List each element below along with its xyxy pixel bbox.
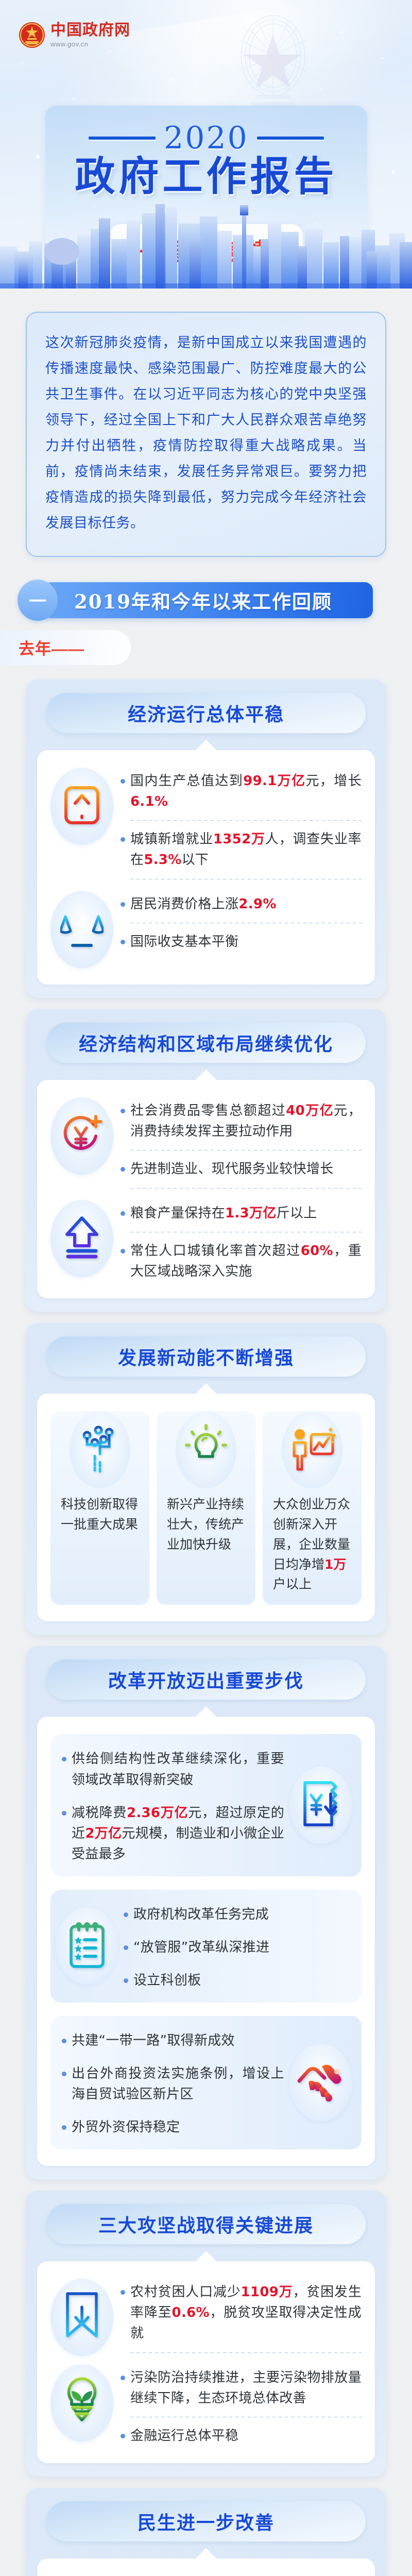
card-notch-decoration — [196, 1383, 216, 1394]
bullet-text: 国内生产总值达到99.1万亿元，增长6.1% — [130, 771, 362, 812]
bullet-dot-icon — [121, 837, 125, 842]
card-title: 经济结构和区域布局继续优化 — [79, 1029, 333, 1056]
highlight-value: 2.36万亿 — [127, 1805, 188, 1821]
bullet-list: 居民消费价格上涨2.9%国际收支基本平衡 — [121, 891, 362, 953]
bullet-item: 社会消费品零售总额超过40万亿元，消费持续发挥主要拉动作用 — [121, 1100, 362, 1142]
bullet-text: 居民消费价格上涨2.9% — [130, 894, 362, 914]
bullet-separator — [130, 923, 362, 923]
card-block: 供给侧结构性改革继续深化，重要领域改革取得新突破减税降费2.36万亿元，超过原定… — [50, 1734, 362, 1876]
bullet-text: 外贸外资保持稳定 — [72, 2117, 284, 2138]
feature-column: 大众创业万众创新深入开展，企业数量日均净增1万户以上 — [263, 1411, 362, 1605]
feature-column-text: 科技创新取得一批重大成果 — [57, 1492, 143, 1535]
block-panel: 供给侧结构性改革继续深化，重要领域改革取得新突破减税降费2.36万亿元，超过原定… — [50, 1734, 362, 1876]
site-logo[interactable]: 中国政府网 www.gov.cn — [19, 22, 130, 48]
bullet-item: 常住人口城镇化率首次超过60%，重大区域战略深入实施 — [121, 1241, 362, 1282]
arrow-up-bold-icon — [62, 1214, 102, 1263]
bullet-dot-icon — [62, 2072, 66, 2076]
bullet-text: 城镇新增就业1352万人，调查失业率在5.3%以下 — [130, 829, 362, 871]
icon-badge — [56, 1907, 118, 1985]
bullet-text: 先进制造业、现代服务业较快增长 — [130, 1159, 362, 1179]
site-logo-url: www.gov.cn — [50, 41, 130, 47]
subsection-pill: 去年—— — [0, 630, 131, 665]
bullet-text: 减税降费2.36万亿元，超过原定的近2万亿元规模，制造业和小微企业受益最多 — [72, 1803, 284, 1865]
card-title-pill: 经济运行总体平稳 — [46, 693, 366, 733]
icon-badge — [50, 2279, 113, 2356]
card-row: 农村贫困人口减少1109万，贫困发生率降至0.6%，脱贫攻坚取得决定性成就 — [50, 2279, 362, 2361]
bullet-separator — [130, 1188, 362, 1189]
card-title-pill: 改革开放迈出重要步伐 — [46, 1659, 366, 1700]
highlight-value: 1109万 — [241, 2284, 293, 2300]
bullet-separator — [130, 1232, 362, 1232]
card-title: 经济运行总体平稳 — [128, 700, 284, 726]
plain-text: 供给侧结构性改革继续深化，重要领域改革取得新突破 — [72, 1751, 284, 1787]
bullet-dot-icon — [62, 2125, 66, 2130]
bullet-text: 社会消费品零售总额超过40万亿元，消费持续发挥主要拉动作用 — [130, 1100, 362, 1142]
plain-text: 元，增长 — [306, 773, 362, 789]
bullet-text: 设立科创板 — [133, 1970, 350, 1991]
card-notch-decoration — [196, 740, 216, 750]
icon-badge — [70, 1411, 130, 1488]
card-notch-decoration — [196, 1706, 216, 1717]
rule-left-decoration — [89, 137, 156, 140]
bullet-dot-icon — [121, 1249, 125, 1253]
lightbulb-icon — [184, 1424, 228, 1476]
plain-text: 金融运行总体平稳 — [130, 2428, 238, 2444]
card-body: 供给侧结构性改革继续深化，重要领域改革取得新突破减税降费2.36万亿元，超过原定… — [37, 1717, 375, 2166]
icon-badge — [50, 768, 113, 845]
plain-text: 设立科创板 — [133, 1973, 201, 1988]
card-title-pill: 三大攻坚战取得关键进展 — [46, 2204, 366, 2244]
icon-badge — [289, 1767, 352, 1844]
column-group: 科技创新取得一批重大成果新兴产业持续壮大，传统产业加快升级大众创业万众创新深入开… — [50, 1411, 362, 1605]
plain-text: 农村贫困人口减少 — [130, 2284, 241, 2300]
bullet-item: “放管服”改革纵深推进 — [124, 1937, 350, 1958]
card-row: 污染防治持续推进，主要污染物排放量继续下降，生态环境总体改善金融运行总体平稳 — [50, 2364, 362, 2447]
bullet-item: 减税降费2.36万亿元，超过原定的近2万亿元规模，制造业和小微企业受益最多 — [62, 1803, 284, 1865]
plain-text: 户以上 — [273, 1577, 312, 1591]
bullet-item: 农村贫困人口减少1109万，贫困发生率降至0.6%，脱贫攻坚取得决定性成就 — [121, 2282, 362, 2344]
bullet-item: 出台外商投资法实施条例，增设上海自贸试验区新片区 — [62, 2063, 284, 2105]
intro-section: 这次新冠肺炎疫情，是新中国成立以来我国遭遇的传播速度最快、感染范围最广、防控难度… — [0, 289, 412, 572]
highlight-value: 0.6% — [172, 2305, 210, 2320]
info-card: 改革开放迈出重要步伐供给侧结构性改革继续深化，重要领域改革取得新突破减税降费2.… — [26, 1646, 386, 2179]
highlight-value: 1352万 — [213, 832, 265, 847]
subsection-header: 去年—— — [0, 622, 412, 668]
bullet-dot-icon — [121, 779, 125, 784]
plain-text: 科技创新取得一批重大成果 — [61, 1497, 138, 1532]
cards-container: 经济运行总体平稳国内生产总值达到99.1万亿元，增长6.1%城镇新增就业1352… — [0, 680, 412, 2576]
bullet-item: 城镇新增就业1352万人，调查失业率在5.3%以下 — [121, 829, 362, 871]
card-body: 农村贫困人口减少1109万，贫困发生率降至0.6%，脱贫攻坚取得决定性成就污染防… — [37, 2261, 375, 2463]
section-header: 一 2019年和今年以来工作回顾 — [0, 572, 412, 622]
card-block: 共建“一带一路”取得新成效出台外商投资法实施条例，增设上海自贸试验区新片区外贸外… — [50, 2016, 362, 2149]
yuan-plus-icon — [60, 1111, 104, 1160]
city-skyline-decoration — [0, 185, 412, 289]
bullet-item: 国际收支基本平衡 — [121, 931, 362, 952]
site-logo-name: 中国政府网 — [50, 23, 130, 38]
bullet-list: 污染防治持续推进，主要污染物排放量继续下降，生态环境总体改善金融运行总体平稳 — [121, 2364, 362, 2447]
icon-badge — [289, 2044, 352, 2121]
bullet-item: 国内生产总值达到99.1万亿元，增长6.1% — [121, 771, 362, 812]
hero-year-row: 2020 — [45, 106, 367, 152]
card-row: 社会消费品零售总额超过40万亿元，消费持续发挥主要拉动作用先进制造业、现代服务业… — [50, 1097, 362, 1197]
block-panel: 政府机构改革任务完成“放管服”改革纵深推进设立科创板 — [50, 1890, 362, 2003]
card-body: 科技创新取得一批重大成果新兴产业持续壮大，传统产业加快升级大众创业万众创新深入开… — [37, 1394, 375, 1621]
block-panel: 共建“一带一路”取得新成效出台外商投资法实施条例，增设上海自贸试验区新片区外贸外… — [50, 2016, 362, 2149]
bullet-list: 供给侧结构性改革继续深化，重要领域改革取得新突破减税降费2.36万亿元，超过原定… — [62, 1745, 284, 1865]
bullet-text: “放管服”改革纵深推进 — [133, 1937, 350, 1958]
plain-text: 常住人口城镇化率首次超过 — [130, 1243, 301, 1259]
card-notch-decoration — [196, 2548, 216, 2558]
plain-text: 政府机构改革任务完成 — [133, 1907, 269, 1922]
plain-text: 共建“一带一路”取得新成效 — [72, 2033, 235, 2048]
plain-text: 城镇新增就业 — [130, 832, 213, 847]
bullet-dot-icon — [62, 2039, 66, 2043]
highlight-value: 60% — [301, 1243, 333, 1259]
plain-text: 出台外商投资法实施条例，增设上海自贸试验区新片区 — [72, 2066, 284, 2102]
card-body: 社会消费品零售总额超过40万亿元，消费持续发挥主要拉动作用先进制造业、现代服务业… — [37, 1080, 375, 1299]
card-body: 居民人均可支配收入超过3万元基本养老、医疗、低保等保障水平提高城镇保障房建设和农… — [37, 2558, 375, 2576]
bullet-text: 出台外商投资法实施条例，增设上海自贸试验区新片区 — [72, 2063, 284, 2105]
plain-text: 先进制造业、现代服务业较快增长 — [130, 1161, 334, 1177]
rule-right-decoration — [257, 137, 324, 140]
balance-scale-icon — [60, 905, 104, 953]
bullet-text: 国际收支基本平衡 — [130, 931, 362, 952]
bullet-dot-icon — [121, 2434, 125, 2438]
person-chart-icon — [288, 1425, 336, 1475]
info-card: 三大攻坚战取得关键进展农村贫困人口减少1109万，贫困发生率降至0.6%，脱贫攻… — [26, 2191, 386, 2477]
bullet-dot-icon — [124, 1945, 128, 1950]
bullet-separator — [130, 2352, 362, 2353]
intro-card: 这次新冠肺炎疫情，是新中国成立以来我国遭遇的传播速度最快、感染范围最广、防控难度… — [26, 312, 386, 557]
intro-paragraph: 这次新冠肺炎疫情，是新中国成立以来我国遭遇的传播速度最快、感染范围最广、防控难度… — [45, 330, 367, 536]
plain-text: 社会消费品零售总额超过 — [130, 1103, 286, 1118]
bullet-item: 外贸外资保持稳定 — [62, 2117, 284, 2138]
bullet-list: 国内生产总值达到99.1万亿元，增长6.1%城镇新增就业1352万人，调查失业率… — [121, 768, 362, 888]
bullet-text: 政府机构改革任务完成 — [133, 1904, 350, 1925]
card-title: 民生进一步改善 — [138, 2508, 274, 2535]
card-title: 发展新动能不断增强 — [118, 1343, 294, 1370]
card-body: 国内生产总值达到99.1万亿元，增长6.1%城镇新增就业1352万人，调查失业率… — [37, 750, 375, 985]
info-card: 经济运行总体平稳国内生产总值达到99.1万亿元，增长6.1%城镇新增就业1352… — [26, 680, 386, 998]
arrow-up-in-box-icon — [62, 783, 102, 829]
bullet-list: 政府机构改革任务完成“放管服”改革纵深推进设立科创板 — [124, 1901, 350, 1991]
plain-text: 斤以上 — [277, 1206, 317, 1221]
icon-badge — [50, 891, 113, 968]
plain-text: 国内生产总值达到 — [130, 773, 243, 789]
subsection-label: 去年—— — [19, 636, 84, 659]
bullet-text: 污染防治持续推进，主要污染物排放量继续下降，生态环境总体改善 — [130, 2367, 362, 2409]
plain-text: 居民消费价格上涨 — [130, 896, 238, 912]
section-title: 2019年和今年以来工作回顾 — [74, 586, 332, 614]
bullet-list: 农村贫困人口减少1109万，贫困发生率降至0.6%，脱贫攻坚取得决定性成就 — [121, 2279, 362, 2361]
hero-year: 2020 — [164, 124, 249, 152]
bullet-dot-icon — [124, 1912, 128, 1917]
checklist-clipboard-icon — [66, 1919, 108, 1973]
plain-text: 国际收支基本平衡 — [130, 934, 238, 950]
card-row: 国内生产总值达到99.1万亿元，增长6.1%城镇新增就业1352万人，调查失业率… — [50, 768, 362, 888]
card-title-pill: 民生进一步改善 — [46, 2501, 366, 2541]
bullet-dot-icon — [121, 902, 125, 907]
bullet-list: 粮食产量保持在1.3万亿斤以上常住人口城镇化率首次超过60%，重大区域战略深入实… — [121, 1200, 362, 1282]
bullet-item: 污染防治持续推进，主要污染物排放量继续下降，生态环境总体改善 — [121, 2367, 362, 2409]
highlight-value: 1万 — [324, 1557, 346, 1572]
bullet-item: 先进制造业、现代服务业较快增长 — [121, 1159, 362, 1179]
bullet-separator — [130, 1150, 362, 1150]
bullet-text: 常住人口城镇化率首次超过60%，重大区域战略深入实施 — [130, 1241, 362, 1282]
bullet-item: 粮食产量保持在1.3万亿斤以上 — [121, 1203, 362, 1224]
icon-badge — [50, 2364, 113, 2442]
card-title-pill: 经济结构和区域布局继续优化 — [46, 1023, 366, 1063]
section-title-bar: 2019年和今年以来工作回顾 — [43, 582, 373, 618]
plain-text: 粮食产量保持在 — [130, 1206, 225, 1221]
card-title-pill: 发展新动能不断增强 — [46, 1336, 366, 1377]
bullet-dot-icon — [121, 940, 125, 944]
bullet-item: 居民消费价格上涨2.9% — [121, 894, 362, 914]
info-card: 民生进一步改善居民人均可支配收入超过3万元基本养老、医疗、低保等保障水平提高城镇… — [26, 2488, 386, 2576]
bullet-dot-icon — [121, 2290, 125, 2295]
icon-badge — [282, 1411, 342, 1488]
bullet-list: 共建“一带一路”取得新成效出台外商投资法实施条例，增设上海自贸试验区新片区外贸外… — [62, 2027, 284, 2138]
bullet-dot-icon — [121, 1211, 125, 1216]
bullet-list: 社会消费品零售总额超过40万亿元，消费持续发挥主要拉动作用先进制造业、现代服务业… — [121, 1097, 362, 1197]
bullet-item: 政府机构改革任务完成 — [124, 1904, 350, 1925]
icon-badge — [176, 1411, 236, 1488]
info-card: 经济结构和区域布局继续优化社会消费品零售总额超过40万亿元，消费持续发挥主要拉动… — [26, 1009, 386, 1312]
bullet-dot-icon — [121, 1109, 125, 1113]
plain-text: 外贸外资保持稳定 — [72, 2120, 180, 2135]
bullet-text: 共建“一带一路”取得新成效 — [72, 2030, 284, 2051]
section-number-badge: 一 — [18, 580, 58, 621]
bullet-dot-icon — [62, 1811, 66, 1816]
bullet-separator — [130, 2417, 362, 2417]
card-notch-decoration — [196, 2251, 216, 2261]
bullet-text: 农村贫困人口减少1109万，贫困发生率降至0.6%，脱贫攻坚取得决定性成就 — [130, 2282, 362, 2344]
card-row: 粮食产量保持在1.3万亿斤以上常住人口城镇化率首次超过60%，重大区域战略深入实… — [50, 1200, 362, 1282]
card-row: 居民消费价格上涨2.9%国际收支基本平衡 — [50, 891, 362, 968]
card-block: 政府机构改革任务完成“放管服”改革纵深推进设立科创板 — [50, 1890, 362, 2003]
plain-text: 污染防治持续推进，主要污染物排放量继续下降，生态环境总体改善 — [130, 2370, 362, 2406]
plain-text: 以下 — [182, 852, 209, 868]
bullet-item: 共建“一带一路”取得新成效 — [62, 2030, 284, 2051]
feature-column: 新兴产业持续壮大，传统产业加快升级 — [157, 1411, 255, 1605]
feature-column: 科技创新取得一批重大成果 — [50, 1411, 149, 1605]
bullet-separator — [130, 820, 362, 821]
bullet-item: 金融运行总体平稳 — [121, 2426, 362, 2446]
bullet-text: 供给侧结构性改革继续深化，重要领域改革取得新突破 — [72, 1749, 284, 1790]
plain-text: 新兴产业持续壮大，传统产业加快升级 — [167, 1497, 244, 1552]
bullet-separator — [130, 879, 362, 879]
hero-banner: 中国政府网 www.gov.cn 2020 政府工作报告 一图全读懂 — [0, 0, 412, 289]
banner-arrow-down-icon — [61, 2290, 102, 2345]
highlight-value: 40万亿 — [286, 1103, 334, 1118]
bullet-item: 设立科创板 — [124, 1970, 350, 1991]
icon-badge — [50, 1097, 113, 1175]
highlight-value: 5.3% — [144, 852, 181, 868]
info-card: 发展新动能不断增强科技创新取得一批重大成果新兴产业持续壮大，传统产业加快升级大众… — [26, 1323, 386, 1635]
card-title: 三大攻坚战取得关键进展 — [98, 2211, 314, 2238]
handshake-icon — [296, 2058, 346, 2107]
bullet-dot-icon — [121, 1167, 125, 1172]
bullet-text: 金融运行总体平稳 — [130, 2426, 362, 2446]
card-title: 改革开放迈出重要步伐 — [108, 1666, 304, 1693]
highlight-value: 2万亿 — [85, 1826, 122, 1841]
highlight-value: 1.3万亿 — [225, 1206, 277, 1221]
circuit-tree-icon — [79, 1424, 121, 1476]
national-emblem-icon — [19, 22, 45, 48]
bullet-text: 粮食产量保持在1.3万亿斤以上 — [130, 1203, 362, 1224]
card-notch-decoration — [196, 1070, 216, 1080]
bullet-item: 供给侧结构性改革继续深化，重要领域改革取得新突破 — [62, 1749, 284, 1790]
bullet-dot-icon — [124, 1978, 128, 1983]
highlight-value: 2.9% — [238, 896, 276, 912]
bullet-dot-icon — [121, 2376, 125, 2380]
highlight-value: 99.1万亿 — [243, 773, 305, 789]
highlight-value: 6.1% — [130, 794, 168, 809]
bullet-dot-icon — [62, 1757, 66, 1761]
feature-column-text: 新兴产业持续壮大，传统产业加快升级 — [163, 1492, 249, 1554]
feature-column-text: 大众创业万众创新深入开展，企业数量日均净增1万户以上 — [269, 1492, 355, 1595]
yuan-down-document-icon — [299, 1778, 343, 1832]
green-leaf-bulb-icon — [60, 2376, 104, 2430]
plain-text: “放管服”改革纵深推进 — [133, 1940, 269, 1955]
icon-badge — [50, 1200, 113, 1277]
plain-text: 减税降费 — [72, 1805, 127, 1821]
national-emblem-watermark-icon — [221, 4, 324, 120]
